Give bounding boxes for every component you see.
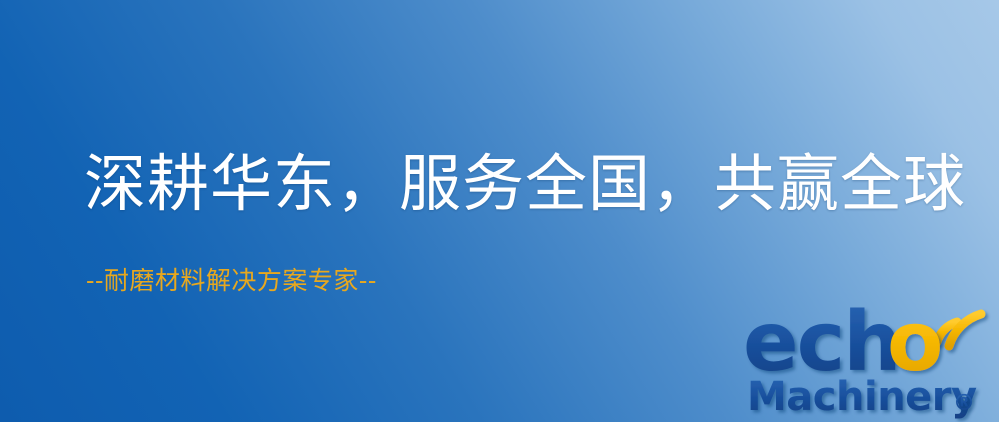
signal-wave-icon	[937, 314, 981, 346]
promo-banner: 深耕华东，服务全国，共赢全球 --耐磨材料解决方案专家--	[0, 0, 999, 422]
echo-machinery-logo: ech o Machinery ®	[741, 292, 993, 420]
subtitle-tagline: --耐磨材料解决方案专家--	[86, 266, 377, 296]
logo-text-machinery: Machinery	[747, 374, 977, 420]
registered-trademark-icon: ®	[953, 391, 975, 416]
headline: 深耕华东，服务全国，共赢全球	[84, 149, 966, 218]
